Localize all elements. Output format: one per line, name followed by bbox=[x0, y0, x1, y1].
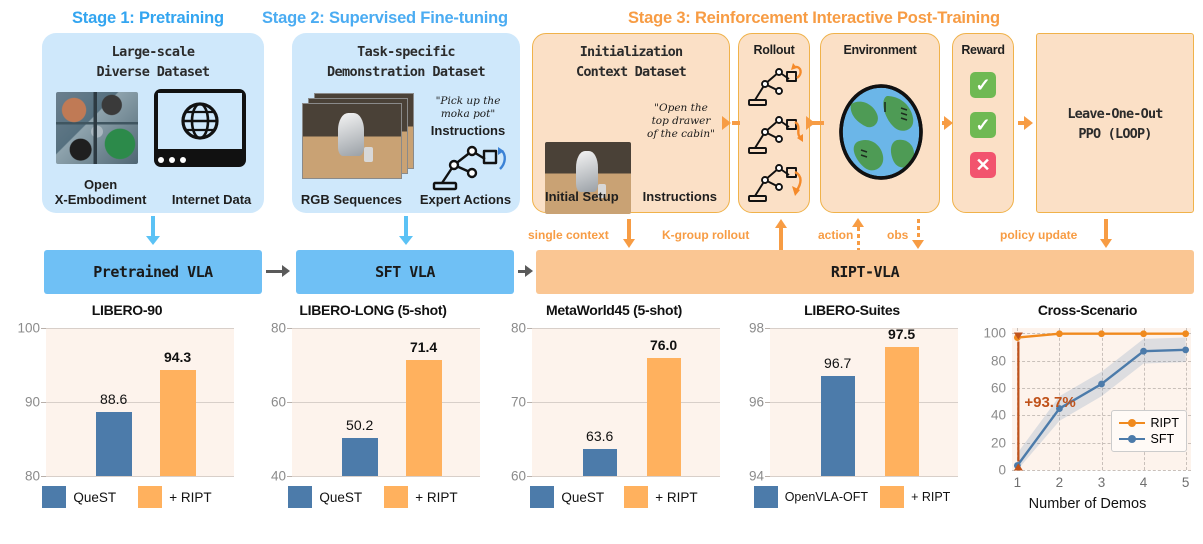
single-context-arrow-head bbox=[623, 239, 635, 248]
pretraining-head-line1: Large-scale bbox=[112, 44, 195, 60]
chart-y-tick-mark bbox=[527, 476, 532, 477]
chart-gridline bbox=[532, 328, 720, 329]
arrow-stage1-down-head bbox=[146, 236, 160, 245]
rgb-sequences-label: RGB Sequences bbox=[301, 192, 402, 207]
rollout-card: Rollout bbox=[738, 33, 810, 213]
chart-legend-label: QueST bbox=[73, 490, 116, 505]
stage-1-title: Stage 1: Pretraining bbox=[72, 9, 224, 28]
chart-bar bbox=[96, 412, 132, 476]
chart-legend-marker bbox=[1119, 422, 1145, 425]
chart-y-tick-label: 100 bbox=[983, 326, 1006, 341]
k-group-rollout-arrow-line bbox=[779, 228, 783, 250]
chart-legend-marker bbox=[1119, 438, 1145, 441]
chart-cross-scenario: Cross-Scenario020406080100+93.7%RIPTSFT1… bbox=[972, 300, 1203, 544]
chart-legend-swatch bbox=[530, 486, 554, 508]
init-instruction-quote: "Open the top drawer of the cabin" bbox=[637, 102, 725, 141]
chart-legend-item: QueST bbox=[288, 486, 362, 508]
chart-legend: QueST+ RIPT bbox=[494, 486, 734, 508]
chart-bar bbox=[406, 360, 442, 476]
pretraining-head-line2: Diverse Dataset bbox=[42, 62, 264, 82]
arrow-rollout-to-env-head bbox=[806, 116, 815, 130]
chart-legend-swatch bbox=[138, 486, 162, 508]
oxe-label-line1: Open bbox=[84, 177, 117, 192]
chart-title: Cross-Scenario bbox=[972, 302, 1203, 318]
rgb-frame-1 bbox=[302, 103, 402, 179]
chart-legend-item: SFT bbox=[1119, 431, 1179, 447]
chart-bar bbox=[885, 347, 919, 477]
chart-legend-item: RIPT bbox=[1119, 415, 1179, 431]
sft-dataset-card: Task-specific Demonstration Dataset "Pic… bbox=[292, 33, 520, 213]
chart-y-tick-label: 96 bbox=[749, 395, 764, 410]
loop-algorithm-card: Leave-One-Out PPO (LOOP) bbox=[1036, 33, 1194, 213]
arrow-init-to-rollout-head bbox=[722, 116, 731, 130]
chart-legend-item: QueST bbox=[42, 486, 116, 508]
chart-legend-item: + RIPT bbox=[624, 486, 697, 508]
sft-instruction-quote: "Pick up the moka pot" bbox=[420, 95, 516, 121]
chart-y-tick-label: 70 bbox=[511, 395, 526, 410]
chart-plot-area: 60708063.676.0 bbox=[532, 328, 720, 476]
reward-title: Reward bbox=[953, 34, 1013, 57]
internet-data-label: Internet Data bbox=[172, 192, 251, 207]
chart-bar-value-label: 63.6 bbox=[586, 428, 613, 444]
chart-bar-value-label: 71.4 bbox=[410, 339, 437, 355]
ript-vla-bar: RIPT-VLA bbox=[536, 250, 1194, 294]
chart-gridline bbox=[532, 476, 720, 477]
chart-y-tick-label: 90 bbox=[25, 395, 40, 410]
chart-legend-label: + RIPT bbox=[655, 490, 697, 505]
chart-y-tick-mark bbox=[765, 328, 770, 329]
expert-actions-label: Expert Actions bbox=[420, 192, 511, 207]
chart-y-tick-mark bbox=[41, 328, 46, 329]
chart-legend-marker-dot bbox=[1128, 435, 1136, 443]
sft-card-footer: RGB Sequences Expert Actions bbox=[292, 192, 520, 207]
internet-data-browser-icon bbox=[154, 89, 246, 167]
chart-y-tick-mark bbox=[765, 476, 770, 477]
sft-instructions-label: Instructions bbox=[420, 123, 516, 138]
action-arrow-line bbox=[857, 227, 860, 250]
open-x-embodiment-thumbnail-image bbox=[56, 92, 138, 164]
chart-legend-item: + RIPT bbox=[138, 486, 211, 508]
pretrained-vla-bar: Pretrained VLA bbox=[44, 250, 262, 294]
chart-gridline bbox=[532, 402, 720, 403]
chart-bar bbox=[821, 376, 855, 476]
chart-x-tick-label: 5 bbox=[1182, 475, 1190, 490]
rgb-sequence-stack bbox=[302, 93, 414, 179]
browser-viewport bbox=[158, 93, 242, 149]
chart-y-tick-label: 94 bbox=[749, 469, 764, 484]
chart-legend-item: QueST bbox=[530, 486, 604, 508]
chart-bar bbox=[647, 358, 681, 476]
chart-legend-item: OpenVLA-OFT bbox=[754, 486, 868, 508]
arrow-stage2-down-head bbox=[399, 236, 413, 245]
chart-y-tick-label: 80 bbox=[25, 469, 40, 484]
chart-gridline bbox=[292, 402, 480, 403]
flow-label-obs: obs bbox=[887, 228, 908, 242]
chart-gridline bbox=[46, 328, 234, 329]
chart-y-tick-label: 60 bbox=[511, 469, 526, 484]
chart-y-tick-label: 0 bbox=[998, 463, 1006, 478]
open-x-embodiment-label: Open X-Embodiment bbox=[55, 177, 147, 207]
chart-bar-value-label: 88.6 bbox=[100, 391, 127, 407]
chart-bar-value-label: 96.7 bbox=[824, 355, 851, 371]
chart-y-tick-label: 40 bbox=[271, 469, 286, 484]
loop-line2: PPO (LOOP) bbox=[1078, 126, 1151, 142]
browser-dot-icon bbox=[169, 157, 175, 163]
chart-bar-value-label: 97.5 bbox=[888, 326, 915, 342]
chart-legend-label: RIPT bbox=[1151, 415, 1179, 431]
flow-label-policy-update: policy update bbox=[1000, 228, 1077, 242]
chart-bar bbox=[160, 370, 196, 476]
init-quote-line1: "Open the bbox=[654, 102, 708, 114]
initialization-context-dataset-card: Initialization Context Dataset "Open the… bbox=[532, 33, 730, 213]
chart-bar-value-label: 50.2 bbox=[346, 417, 373, 433]
chart-data-point bbox=[1098, 381, 1105, 388]
chart-bar-value-label: 76.0 bbox=[650, 337, 677, 353]
browser-dot-icon bbox=[180, 157, 186, 163]
globe-icon bbox=[180, 101, 220, 141]
chart-data-point bbox=[1056, 330, 1063, 337]
chart-legend-label: QueST bbox=[319, 490, 362, 505]
chart-title: MetaWorld45 (5-shot) bbox=[494, 302, 734, 318]
chart-legend-item: + RIPT bbox=[384, 486, 457, 508]
reward-success-badge-1: ✓ bbox=[970, 72, 996, 98]
chart-y-tick-mark bbox=[527, 328, 532, 329]
chart-legend: QueST+ RIPT bbox=[2, 486, 252, 508]
chart-y-tick-mark bbox=[41, 476, 46, 477]
chart-data-point bbox=[1140, 330, 1147, 337]
k-group-rollout-arrow-head bbox=[775, 219, 787, 228]
chart-title: LIBERO-90 bbox=[2, 302, 252, 318]
chart-gridline bbox=[770, 328, 958, 329]
policy-update-arrow-head bbox=[1100, 239, 1112, 248]
chart-y-tick-label: 60 bbox=[271, 395, 286, 410]
browser-dot-icon bbox=[158, 157, 164, 163]
chart-legend: OpenVLA-OFT+ RIPT bbox=[730, 486, 974, 508]
chart-y-tick-label: 100 bbox=[17, 321, 40, 336]
chart-x-axis-label: Number of Demos bbox=[972, 496, 1203, 512]
robot-arm-icon bbox=[428, 139, 512, 193]
policy-update-arrow-line bbox=[1104, 219, 1108, 241]
chart-y-tick-mark bbox=[41, 402, 46, 403]
sft-quote-line1: "Pick up the bbox=[436, 95, 501, 107]
browser-titlebar bbox=[158, 153, 191, 167]
chart-legend-swatch bbox=[754, 486, 778, 508]
obs-arrow-head bbox=[912, 240, 924, 249]
chart-libero-suites: LIBERO-Suites94969896.797.5OpenVLA-OFT+ … bbox=[730, 300, 974, 544]
chart-y-tick-label: 98 bbox=[749, 321, 764, 336]
chart-y-tick-label: 80 bbox=[991, 353, 1006, 368]
reward-failure-badge: ✕ bbox=[970, 152, 996, 178]
chart-legend: QueST+ RIPT bbox=[248, 486, 498, 508]
chart-x-tick-label: 1 bbox=[1014, 475, 1022, 490]
chart-y-tick-label: 80 bbox=[271, 321, 286, 336]
sft-head-line2: Demonstration Dataset bbox=[292, 62, 520, 82]
chart-plot-area: 40608050.271.4 bbox=[292, 328, 480, 476]
chart-data-point bbox=[1182, 330, 1189, 337]
oxe-label-line2: X-Embodiment bbox=[55, 192, 147, 207]
chart-x-tick-label: 4 bbox=[1140, 475, 1148, 490]
arrow-sft-to-ript-head bbox=[525, 265, 533, 277]
chart-gridline bbox=[292, 476, 480, 477]
chart-y-tick-label: 80 bbox=[511, 321, 526, 336]
chart-x-tick-label: 3 bbox=[1098, 475, 1106, 490]
pretraining-card-footer: Open X-Embodiment Internet Data bbox=[42, 177, 264, 207]
init-head-line1: Initialization bbox=[580, 44, 683, 60]
chart-gridline bbox=[46, 476, 234, 477]
chart-y-tick-mark bbox=[287, 476, 292, 477]
pretraining-dataset-card: Large-scale Diverse Dataset Open X-Embod… bbox=[42, 33, 264, 213]
chart-legend-swatch bbox=[288, 486, 312, 508]
flow-label-single-context: single context bbox=[528, 228, 609, 242]
chart-plot-area: 020406080100+93.7%RIPTSFT bbox=[1012, 328, 1191, 470]
chart-legend-label: + RIPT bbox=[415, 490, 457, 505]
pretraining-card-heading: Large-scale Diverse Dataset bbox=[42, 33, 264, 82]
flow-label-action: action bbox=[818, 228, 853, 242]
arrow-pretrained-to-sft-head bbox=[282, 265, 290, 277]
chart-legend-swatch bbox=[42, 486, 66, 508]
chart-legend-label: SFT bbox=[1151, 431, 1175, 447]
chart-libero-90: LIBERO-90809010088.694.3QueST+ RIPT bbox=[2, 300, 252, 544]
init-card-heading: Initialization Context Dataset bbox=[533, 34, 729, 82]
arrow-init-to-rollout-line bbox=[732, 121, 740, 125]
chart-legend-label: + RIPT bbox=[911, 490, 950, 504]
chart-legend-item: + RIPT bbox=[880, 486, 950, 508]
flow-label-k-group-rollout: K-group rollout bbox=[662, 228, 749, 242]
chart-libero-long: LIBERO-LONG (5-shot)40608050.271.4QueST+… bbox=[248, 300, 498, 544]
loop-card-text: Leave-One-Out PPO (LOOP) bbox=[1037, 104, 1193, 144]
chart-legend-marker-dot bbox=[1128, 419, 1136, 427]
chart-y-tick-mark bbox=[765, 402, 770, 403]
init-card-footer: Initial Setup Instructions bbox=[533, 189, 729, 204]
chart-gridline bbox=[292, 328, 480, 329]
rollout-title: Rollout bbox=[739, 34, 809, 57]
arrow-env-to-reward-head bbox=[944, 116, 953, 130]
arrow-stage2-down-line bbox=[404, 216, 408, 238]
arrow-reward-to-loop-head bbox=[1024, 116, 1033, 130]
chart-gridline bbox=[770, 402, 958, 403]
stage-2-title: Stage 2: Supervised Fine-tuning bbox=[262, 9, 508, 28]
chart-legend: RIPTSFT bbox=[1111, 410, 1187, 452]
sft-head-line1: Task-specific bbox=[357, 44, 455, 60]
sft-vla-bar: SFT VLA bbox=[296, 250, 514, 294]
init-quote-line2: top drawer bbox=[652, 115, 711, 127]
environment-card: Environment bbox=[820, 33, 940, 213]
chart-y-tick-mark bbox=[527, 402, 532, 403]
sft-card-heading: Task-specific Demonstration Dataset bbox=[292, 33, 520, 82]
chart-data-point bbox=[1182, 346, 1189, 353]
sft-quote-line2: moka pot" bbox=[441, 108, 495, 120]
rollout-robot-arms-icon bbox=[745, 60, 805, 210]
chart-legend-swatch bbox=[384, 486, 408, 508]
chart-bar bbox=[583, 449, 617, 476]
chart-title: LIBERO-LONG (5-shot) bbox=[248, 302, 498, 318]
reward-success-badge-2: ✓ bbox=[970, 112, 996, 138]
chart-y-tick-label: 20 bbox=[991, 435, 1006, 450]
init-head-line2: Context Dataset bbox=[576, 64, 686, 80]
init-instructions-label: Instructions bbox=[643, 189, 717, 204]
chart-legend-label: QueST bbox=[561, 490, 604, 505]
chart-data-point bbox=[1140, 348, 1147, 355]
chart-gridline bbox=[770, 476, 958, 477]
chart-bar-value-label: 94.3 bbox=[164, 349, 191, 365]
chart-legend-label: + RIPT bbox=[169, 490, 211, 505]
chart-plot-area: 809010088.694.3 bbox=[46, 328, 234, 476]
chart-data-point bbox=[1098, 330, 1105, 337]
chart-bar bbox=[342, 438, 378, 476]
chart-metaworld45: MetaWorld45 (5-shot)60708063.676.0QueST+… bbox=[494, 300, 734, 544]
action-arrow-head bbox=[852, 218, 864, 227]
reward-card: Reward ✓ ✓ ✕ bbox=[952, 33, 1014, 213]
chart-gridline bbox=[46, 402, 234, 403]
chart-y-tick-label: 60 bbox=[991, 381, 1006, 396]
chart-improvement-annotation-label: +93.7% bbox=[1024, 394, 1075, 411]
chart-plot-area: 94969896.797.5 bbox=[770, 328, 958, 476]
initial-setup-label: Initial Setup bbox=[545, 189, 619, 204]
environment-title: Environment bbox=[821, 34, 939, 57]
obs-arrow-line bbox=[917, 219, 920, 242]
globe-environment-icon bbox=[835, 82, 927, 182]
chart-y-tick-mark bbox=[287, 328, 292, 329]
loop-line1: Leave-One-Out bbox=[1067, 106, 1162, 122]
chart-title: LIBERO-Suites bbox=[730, 302, 974, 318]
chart-x-tick-label: 2 bbox=[1056, 475, 1064, 490]
init-quote-line3: of the cabin" bbox=[647, 128, 715, 140]
arrow-stage1-down-line bbox=[151, 216, 155, 238]
chart-legend-swatch bbox=[880, 486, 904, 508]
stage-3-title: Stage 3: Reinforcement Interactive Post-… bbox=[628, 9, 1000, 28]
chart-legend-label: OpenVLA-OFT bbox=[785, 490, 868, 504]
chart-y-tick-label: 40 bbox=[991, 408, 1006, 423]
chart-gridline bbox=[1012, 470, 1191, 471]
chart-legend-swatch bbox=[624, 486, 648, 508]
single-context-arrow-line bbox=[627, 219, 631, 241]
chart-y-tick-mark bbox=[287, 402, 292, 403]
